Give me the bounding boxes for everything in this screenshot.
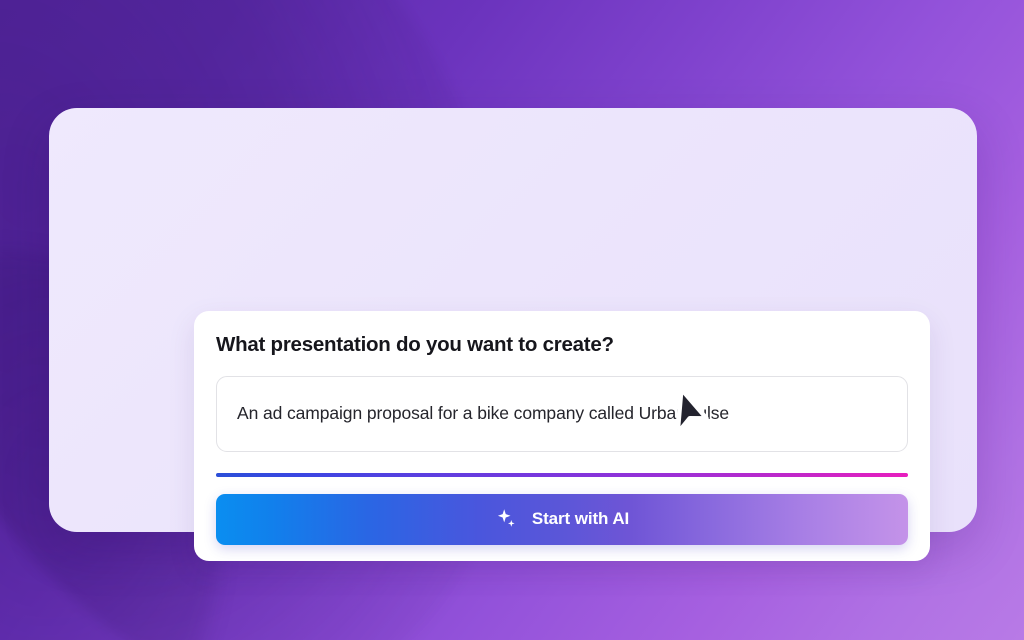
gradient-divider [216,473,908,477]
outer-panel: What presentation do you want to create?… [49,108,977,532]
app-stage: What presentation do you want to create?… [0,0,1024,640]
page-title: What presentation do you want to create? [216,333,908,358]
start-with-ai-label: Start with AI [532,509,629,529]
prompt-input[interactable]: An ad campaign proposal for a bike compa… [216,376,908,452]
sparkle-icon [495,507,519,531]
prompt-input-value: An ad campaign proposal for a bike compa… [237,403,729,424]
prompt-card-content: What presentation do you want to create?… [216,333,908,545]
prompt-card: What presentation do you want to create?… [194,311,930,561]
start-with-ai-button[interactable]: Start with AI [216,494,908,545]
